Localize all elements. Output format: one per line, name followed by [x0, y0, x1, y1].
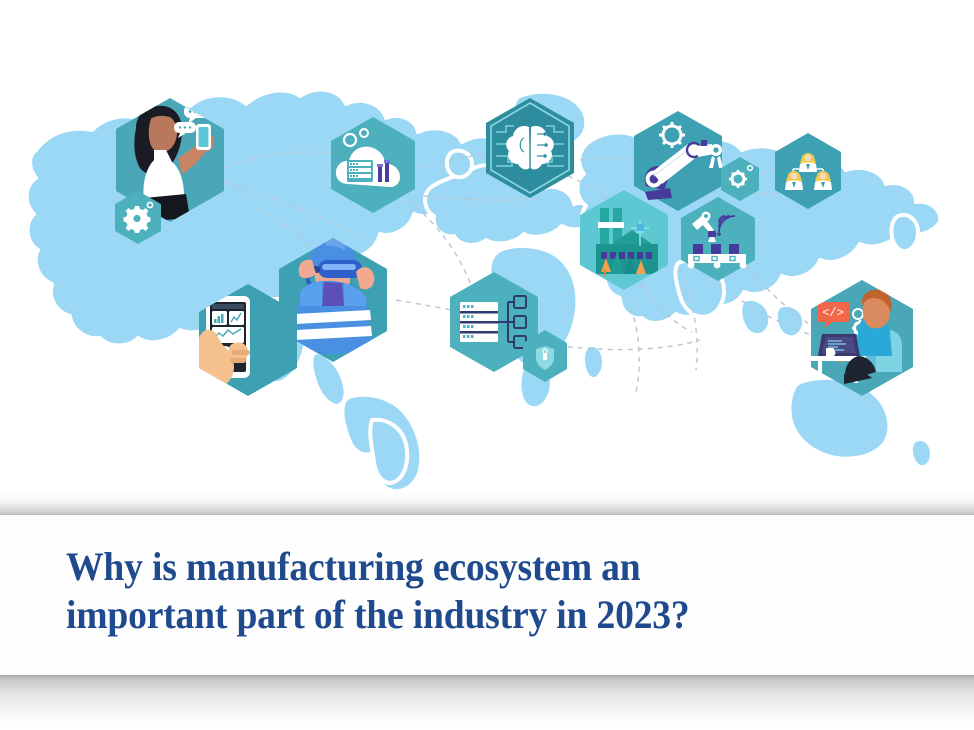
title-banner: Why is manufacturing ecosystem an import…: [0, 492, 974, 730]
banner-surface: Why is manufacturing ecosystem an import…: [0, 515, 974, 675]
hero-illustration: </>: [0, 0, 974, 492]
banner-top-shadow: [0, 492, 974, 515]
slide-root: </>: [0, 0, 974, 730]
svg-text:</>: </>: [822, 306, 844, 320]
banner-bottom-shadow: [0, 675, 974, 730]
world-map-graphic: </>: [0, 0, 974, 492]
page-title: Why is manufacturing ecosystem an import…: [66, 543, 865, 639]
